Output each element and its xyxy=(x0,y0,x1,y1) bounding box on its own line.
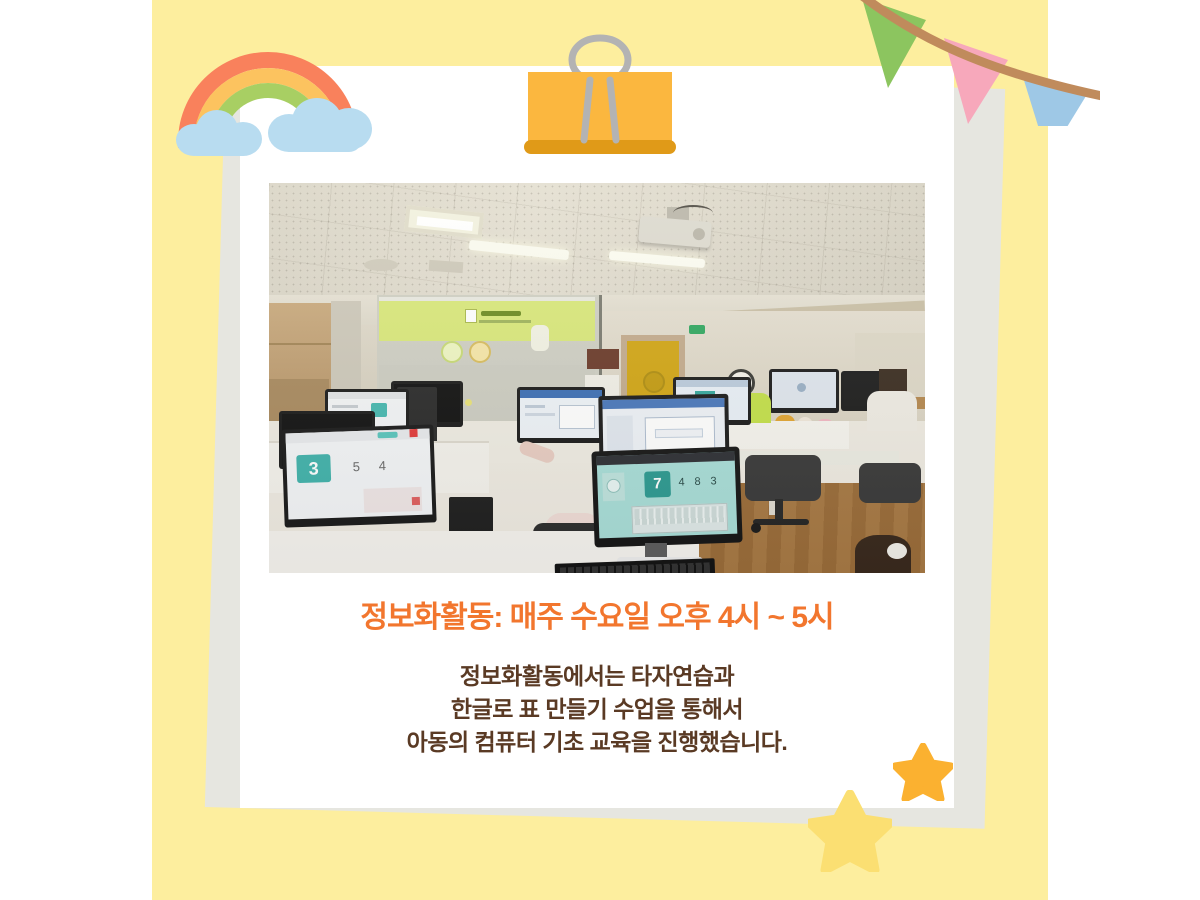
photo-overlay xyxy=(269,183,925,573)
page-title: 정보화활동: 매주 수요일 오후 4시 ~ 5시 xyxy=(240,592,954,636)
cloud-right-icon xyxy=(268,98,372,152)
description-line-1: 정보화활동에서는 타자연습과 xyxy=(240,660,954,693)
poster-canvas: 7 4 8 3 3 5 4 정보화활동: 매주 수요일 오후 4시 ~ 5시 정… xyxy=(0,0,1200,900)
classroom-photo: 7 4 8 3 3 5 4 xyxy=(269,183,925,573)
description-line-3: 아동의 컴퓨터 기초 교육을 진행했습니다. xyxy=(240,726,954,759)
description-text: 정보화활동에서는 타자연습과 한글로 표 만들기 수업을 통해서 아동의 컴퓨터… xyxy=(240,660,954,759)
cloud-left-icon xyxy=(176,110,262,156)
description-line-2: 한글로 표 만들기 수업을 통해서 xyxy=(240,693,954,726)
bunting-icon xyxy=(840,0,1100,126)
star-large-icon xyxy=(808,790,892,872)
binder-clip-wire-front-icon xyxy=(562,34,638,144)
star-small-icon xyxy=(893,743,953,801)
